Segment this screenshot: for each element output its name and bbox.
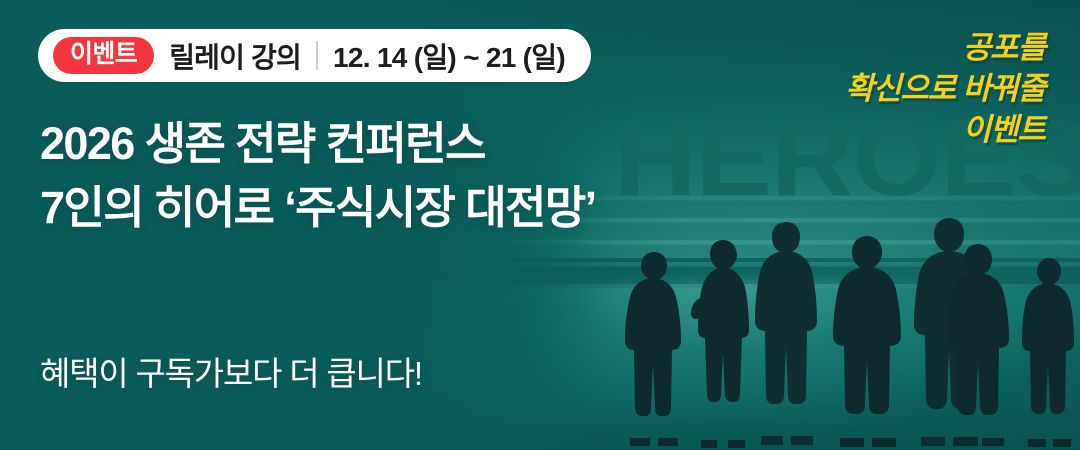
promo-callout: 공포를 확신으로 바꿔줄 이벤트 [846,27,1045,151]
headline-line-1: 2026 생존 전략 컨퍼런스 [40,112,596,176]
promo-line-1: 공포를 [846,27,1045,68]
event-badge: 이벤트 [53,37,154,74]
pill-divider [316,41,318,70]
event-date-range: 12. 14 (일) ~ 21 (일) [333,36,565,76]
event-banner: HEROES [0,0,1080,450]
headline-line-2: 7인의 히어로 ‘주식시장 대전망’ [40,176,596,240]
promo-line-3: 이벤트 [846,109,1045,150]
event-info-pill: 이벤트 릴레이 강의 12. 14 (일) ~ 21 (일) [38,29,591,82]
promo-line-2: 확신으로 바꿔줄 [846,68,1045,109]
page-title: 2026 생존 전략 컨퍼런스 7인의 히어로 ‘주식시장 대전망’ [40,112,596,241]
benefit-tagline: 혜택이 구독가보다 더 큽니다! [40,347,422,395]
lecture-type-label: 릴레이 강의 [169,36,301,76]
